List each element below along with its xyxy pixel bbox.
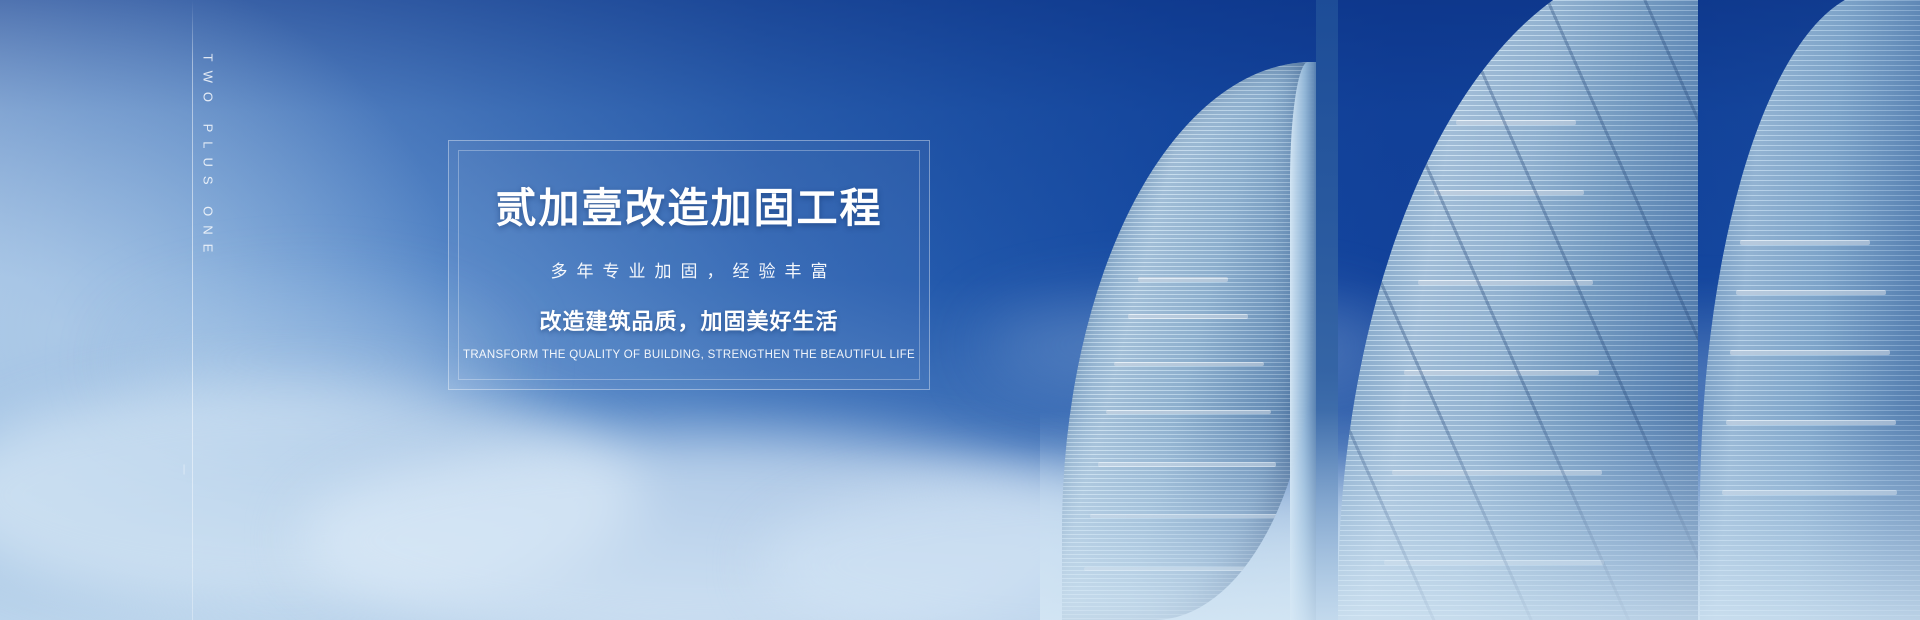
vertical-divider-line [192, 0, 193, 620]
subheadline-text: 多年专业加固，经验丰富 [542, 257, 837, 282]
headline-title: 贰加壹改造加固工程 [496, 186, 883, 231]
hero-banner: TWO PLUS ONE 一 贰加壹改造加固工程 多年专业加固，经验丰富 改造建… [0, 0, 1920, 620]
english-tagline-text: TRANSFORM THE QUALITY OF BUILDING, STREN… [463, 349, 915, 361]
brand-mark-glyph: 一 [176, 464, 192, 476]
text-panel-content: 贰加壹改造加固工程 多年专业加固，经验丰富 改造建筑品质，加固美好生活 TRAN… [448, 140, 930, 390]
brand-vertical-text: TWO PLUS ONE [201, 48, 216, 268]
atmospheric-haze [1040, 410, 1920, 620]
tagline-text: 改造建筑品质，加固美好生活 [539, 304, 838, 336]
brand-rail: TWO PLUS ONE 一 [150, 0, 240, 620]
